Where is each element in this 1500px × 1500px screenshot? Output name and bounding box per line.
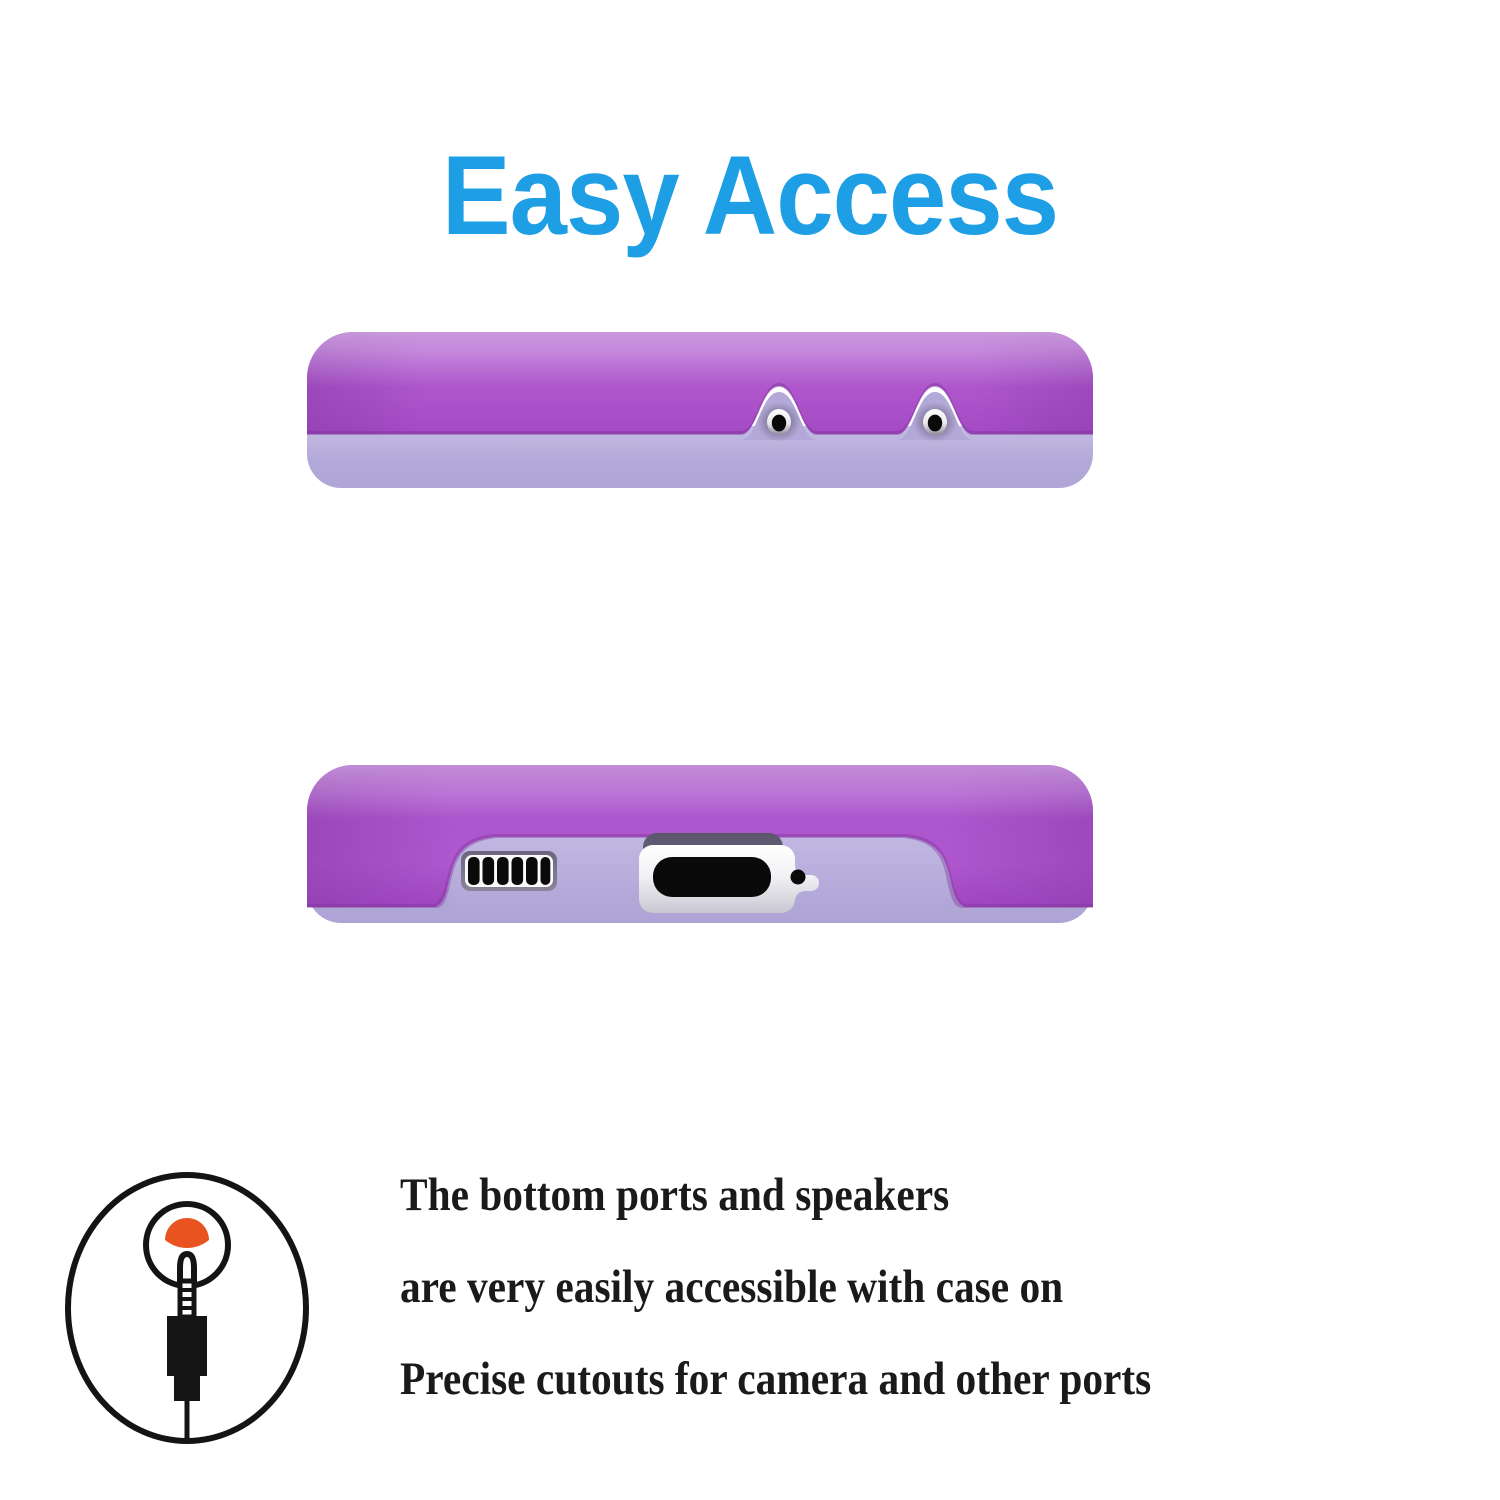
icon-jack-neck — [174, 1373, 200, 1401]
headphone-jack-icon — [62, 1168, 312, 1453]
bottom-microphone-hole — [791, 870, 806, 885]
case-top-view-image — [305, 330, 1095, 490]
icon-jack-body — [167, 1316, 207, 1376]
page-title: Easy Access — [60, 137, 1440, 255]
feature-text-block: The bottom ports and speakers are very e… — [400, 1150, 1460, 1403]
feature-line-1: The bottom ports and speakers — [400, 1172, 1333, 1219]
case-bottom-view-image — [305, 765, 1095, 925]
microphone-hole — [757, 402, 801, 442]
feature-callout: The bottom ports and speakers are very e… — [0, 1150, 1500, 1470]
noise-cancellation-hole — [913, 402, 957, 442]
feature-line-2: are very easily accessible with case on — [400, 1264, 1333, 1311]
feature-line-3: Precise cutouts for camera and other por… — [400, 1356, 1333, 1403]
case-top-view-illustration — [305, 330, 1095, 490]
case-bottom-view-illustration — [305, 765, 1095, 925]
icon-jack-tip — [180, 1254, 194, 1282]
speaker-grille — [461, 851, 557, 891]
case-outer-shell — [307, 332, 1093, 435]
headphone-jack-icon-svg — [62, 1168, 312, 1453]
